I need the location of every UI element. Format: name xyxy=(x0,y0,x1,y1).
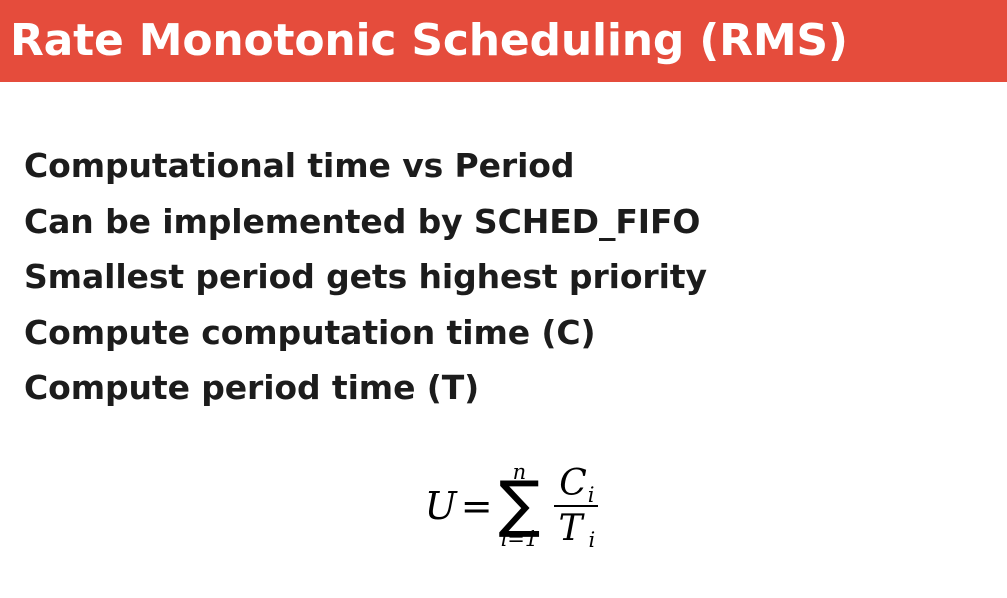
formula-container: U = n ∑ i=1 C i T i xyxy=(0,462,1007,550)
fraction-denominator: T i xyxy=(556,507,596,547)
list-item: Compute computation time (C) xyxy=(24,305,974,361)
numerator-symbol: C xyxy=(559,466,587,502)
slide-title-bar: Rate Monotonic Scheduling (RMS) xyxy=(0,0,1007,82)
denominator-symbol: T xyxy=(558,511,582,547)
numerator-subscript: i xyxy=(588,485,595,506)
utilization-formula: U = n ∑ i=1 C i T i xyxy=(425,462,599,550)
slide: Rate Monotonic Scheduling (RMS) Computat… xyxy=(0,0,1007,598)
list-item: Compute period time (T) xyxy=(24,360,974,416)
summation-lower-limit: i=1 xyxy=(501,529,539,550)
fraction-numerator: C i xyxy=(557,466,595,505)
list-item: Can be implemented by SCHED_FIFO xyxy=(24,194,974,250)
summation-sigma-icon: ∑ xyxy=(499,480,541,528)
fraction-group: C i T i xyxy=(554,466,598,547)
list-item: Computational time vs Period xyxy=(24,138,974,194)
list-item: Smallest period gets highest priority xyxy=(24,249,974,305)
formula-equals-sign: = xyxy=(461,487,493,525)
bullet-list: Computational time vs Period Can be impl… xyxy=(24,138,974,416)
formula-variable-u: U xyxy=(425,487,457,525)
page-title: Rate Monotonic Scheduling (RMS) xyxy=(0,19,848,63)
summation-group: n ∑ i=1 xyxy=(499,462,541,550)
denominator-subscript: i xyxy=(588,530,595,551)
